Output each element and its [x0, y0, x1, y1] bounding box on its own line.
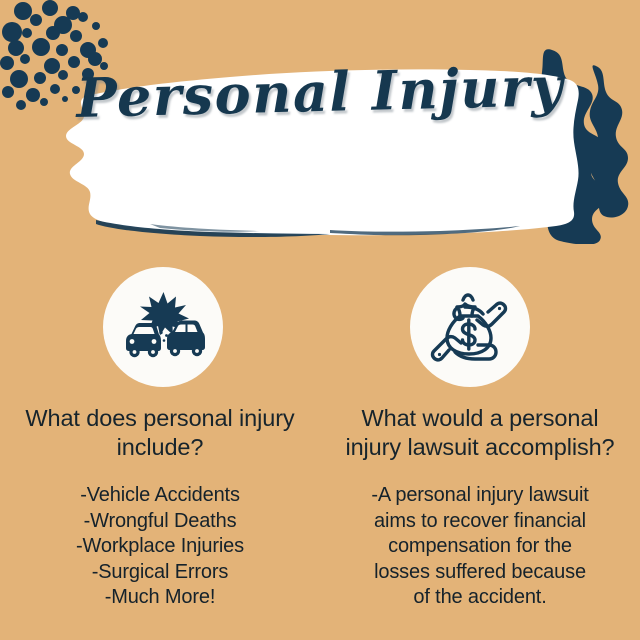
decorative-dot: [22, 28, 32, 38]
decorative-dot: [2, 22, 22, 42]
column-heading-right: What would a personal injury lawsuit acc…: [332, 404, 628, 462]
decorative-dot: [98, 38, 108, 48]
paragraph-line: aims to recover financial: [332, 509, 628, 535]
money-bag-icon-circle: [410, 267, 530, 387]
column-list-left: -Vehicle Accidents -Wrongful Deaths -Wor…: [12, 483, 308, 611]
list-item: -Surgical Errors: [12, 560, 308, 586]
decorative-dot: [8, 40, 24, 56]
decorative-dot: [46, 26, 60, 40]
decorative-dot: [30, 14, 42, 26]
paragraph-line: losses suffered because: [332, 560, 628, 586]
list-item: -Much More!: [12, 585, 308, 611]
infographic-canvas: Personal Injury: [0, 0, 640, 640]
decorative-dot: [56, 44, 68, 56]
decorative-dot: [32, 38, 50, 56]
list-item: -Vehicle Accidents: [12, 483, 308, 509]
decorative-dot: [42, 0, 58, 16]
car-crash-icon-circle: [103, 267, 223, 387]
car-crash-icon: [120, 289, 206, 365]
list-item: -Wrongful Deaths: [12, 509, 308, 535]
paragraph-line: compensation for the: [332, 534, 628, 560]
decorative-dot: [20, 54, 30, 64]
paragraph-line: -A personal injury lawsuit: [332, 483, 628, 509]
list-item: -Workplace Injuries: [12, 534, 308, 560]
money-bag-in-hands-icon: [426, 286, 514, 368]
decorative-dot: [78, 12, 88, 22]
content-columns: What does personal injury include? -Vehi…: [0, 404, 640, 640]
column-heading-left: What does personal injury include?: [12, 404, 308, 462]
decorative-dot: [70, 30, 82, 42]
paragraph-line: of the accident.: [332, 585, 628, 611]
column-personal-injury-includes: What does personal injury include? -Vehi…: [0, 404, 320, 640]
column-paragraph-right: -A personal injury lawsuit aims to recov…: [332, 483, 628, 611]
decorative-dot: [92, 22, 100, 30]
column-lawsuit-accomplish: What would a personal injury lawsuit acc…: [320, 404, 640, 640]
